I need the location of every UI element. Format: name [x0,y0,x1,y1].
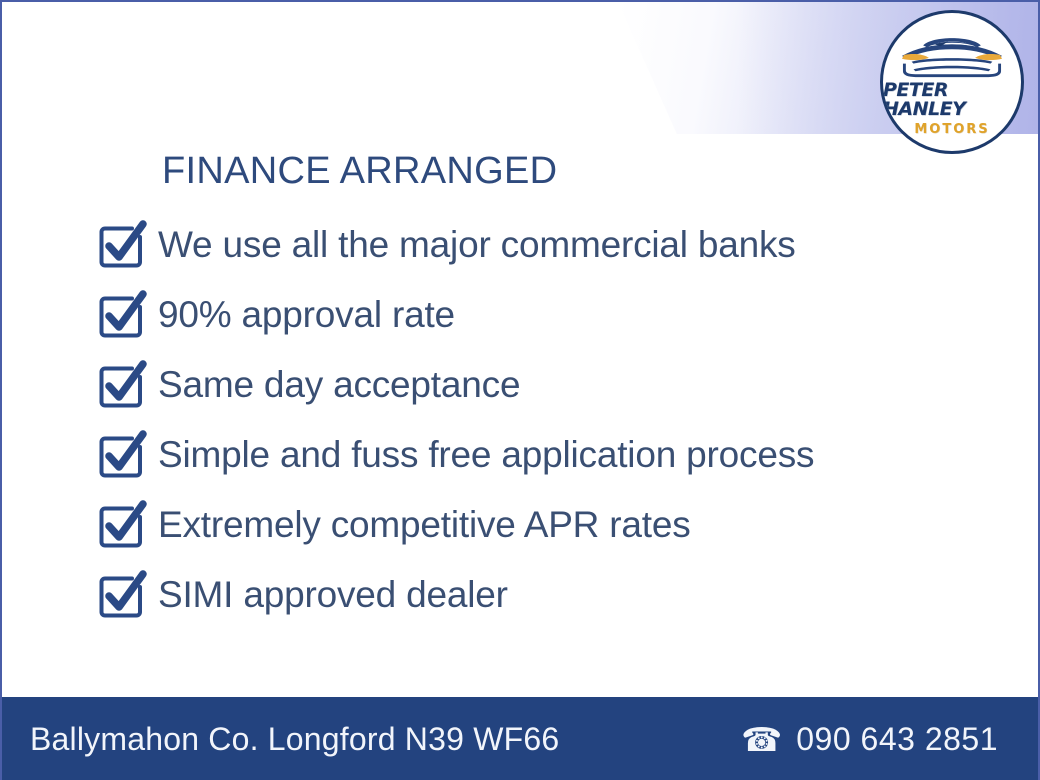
checkbox-checked-icon [94,357,148,411]
list-item-label: Same day acceptance [158,366,520,403]
phone-icon: ☎ [741,723,782,756]
footer-contact: ☎ 090 643 2851 [741,721,998,758]
list-item: Same day acceptance [94,349,974,419]
list-item-label: 90% approval rate [158,296,455,333]
footer-bar: Ballymahon Co. Longford N39 WF66 ☎ 090 6… [2,697,1038,780]
page-title: FINANCE ARRANGED [162,150,557,193]
feature-list: We use all the major commercial banks 90… [94,209,974,629]
list-item: 90% approval rate [94,279,974,349]
list-item-label: Simple and fuss free application process [158,436,814,473]
list-item-label: We use all the major commercial banks [158,226,796,263]
checkbox-checked-icon [94,217,148,271]
checkbox-checked-icon [94,567,148,621]
checkbox-checked-icon [94,287,148,341]
list-item: We use all the major commercial banks [94,209,974,279]
checkbox-checked-icon [94,497,148,551]
footer-phone-number[interactable]: 090 643 2851 [796,721,998,758]
brand-logo: PETER HANLEY MOTORS [880,10,1024,154]
logo-brand-subtitle: MOTORS [914,123,989,136]
footer-address: Ballymahon Co. Longford N39 WF66 [30,721,559,758]
list-item-label: SIMI approved dealer [158,576,508,613]
list-item-label: Extremely competitive APR rates [158,506,691,543]
car-front-icon [894,29,1010,79]
list-item: Extremely competitive APR rates [94,489,974,559]
logo-brand-name: PETER HANLEY [883,81,1021,119]
checkbox-checked-icon [94,427,148,481]
list-item: SIMI approved dealer [94,559,974,629]
finance-poster: PETER HANLEY MOTORS FINANCE ARRANGED We … [0,0,1040,780]
list-item: Simple and fuss free application process [94,419,974,489]
